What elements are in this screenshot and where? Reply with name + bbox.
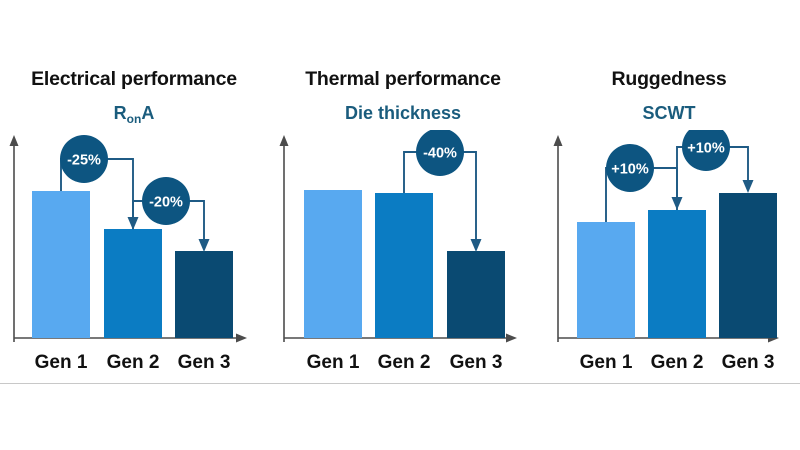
charts-row: Electrical performance RonA xyxy=(0,0,800,383)
bar-gen-3 xyxy=(719,193,777,338)
bar-gen-1 xyxy=(32,191,90,338)
annotation-badge-label: -20% xyxy=(149,194,183,210)
bar-gen-3 xyxy=(175,251,233,338)
chart-panel-ruggedness: Ruggedness SCWT xyxy=(538,0,800,383)
chart-subtitle-rona: RonA xyxy=(0,103,268,125)
annotation-badge-label: -25% xyxy=(67,152,101,168)
annotation-badge-25: -25% xyxy=(60,135,108,183)
chart-subtitle-die-thickness: Die thickness xyxy=(268,103,538,125)
annotation-badge-label: +10% xyxy=(611,161,649,177)
chart-subtitle-scwt: SCWT xyxy=(538,103,800,125)
annotation-badge-40: -40% xyxy=(416,130,464,176)
footer-area xyxy=(0,384,800,450)
annotation-badge-20: -20% xyxy=(142,177,190,225)
annotation-badge-label: +10% xyxy=(687,140,725,156)
slide-canvas: Electrical performance RonA xyxy=(0,0,800,450)
chart-title-thermal-performance: Thermal performance xyxy=(268,70,538,90)
plot-area-thermal-performance: -40% Gen 1 Gen 2 Gen 3 xyxy=(268,130,538,383)
chart-panel-thermal-performance: Thermal performance Die thickness xyxy=(268,0,538,383)
y-axis xyxy=(554,135,563,342)
y-axis xyxy=(280,135,289,342)
annotation-badge-plus10-2: +10% xyxy=(682,130,730,171)
category-label-gen-3: Gen 3 xyxy=(450,352,503,373)
category-label-gen-2: Gen 2 xyxy=(107,352,160,373)
bar-gen-3 xyxy=(447,251,505,338)
plot-area-ruggedness: +10% +10% Gen 1 Gen 2 Gen 3 xyxy=(538,130,800,383)
bar-gen-2 xyxy=(648,210,706,338)
chart-panel-electrical-performance: Electrical performance RonA xyxy=(0,0,268,383)
category-label-gen-3: Gen 3 xyxy=(722,352,775,373)
category-label-gen-1: Gen 1 xyxy=(580,352,633,373)
bar-gen-1 xyxy=(577,222,635,338)
subtitle-suffix: A xyxy=(141,103,154,123)
chart-title-electrical-performance: Electrical performance xyxy=(0,70,268,90)
chart-title-ruggedness: Ruggedness xyxy=(538,70,800,90)
category-label-gen-1: Gen 1 xyxy=(35,352,88,373)
category-label-gen-1: Gen 1 xyxy=(307,352,360,373)
bar-gen-1 xyxy=(304,190,362,338)
plot-area-electrical-performance: -25% -20% Gen 1 Gen 2 Gen 3 xyxy=(0,130,268,383)
annotation-badge-label: -40% xyxy=(423,145,457,161)
subtitle-prefix: R xyxy=(114,103,127,123)
y-axis xyxy=(10,135,19,342)
annotation-badge-plus10-1: +10% xyxy=(606,144,654,192)
category-label-gen-3: Gen 3 xyxy=(178,352,231,373)
bar-gen-2 xyxy=(375,193,433,338)
subtitle-subscript: on xyxy=(127,112,142,126)
category-label-gen-2: Gen 2 xyxy=(651,352,704,373)
bar-gen-2 xyxy=(104,229,162,338)
category-label-gen-2: Gen 2 xyxy=(378,352,431,373)
